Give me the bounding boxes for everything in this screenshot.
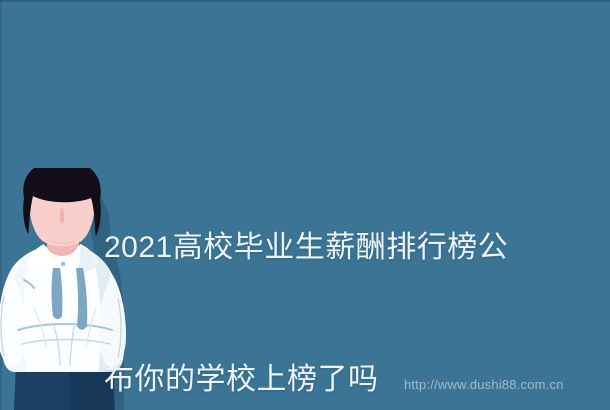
top-border-line: [0, 0, 610, 2]
cover-image-canvas: 2021高校毕业生薪酬排行榜公 布你的学校上榜了吗 http://www.dus…: [0, 0, 610, 410]
headline-text: 2021高校毕业生薪酬排行榜公 布你的学校上榜了吗: [104, 138, 524, 410]
watermark-url: http://www.dushi88.com.cn: [404, 377, 564, 392]
headline-line-1: 2021高校毕业生薪酬排行榜公: [104, 226, 524, 270]
